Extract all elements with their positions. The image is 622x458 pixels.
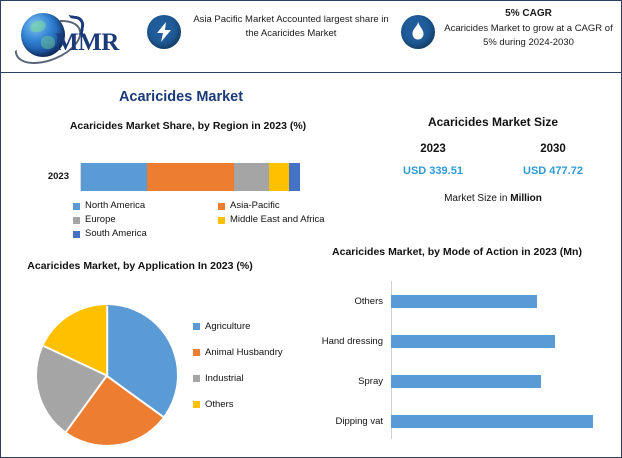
- legend-swatch-icon: [193, 323, 200, 330]
- infographic-page: MMR Asia Pacific Market Accounted larges…: [0, 0, 622, 458]
- moa-bar-spray[interactable]: [391, 375, 541, 388]
- legend-label: South America: [85, 227, 147, 241]
- moa-row-hand-dressing: Hand dressing: [313, 321, 613, 361]
- bar-segment-north-america[interactable]: [81, 163, 147, 191]
- cagr-headline: 5% CAGR: [441, 7, 616, 21]
- market-size-panel: Acaricides Market Size 2023 2030 USD 339…: [373, 115, 613, 227]
- legend-item-animal-husbandry[interactable]: Animal Husbandry: [193, 339, 283, 365]
- brand-name: MMR: [55, 29, 119, 57]
- header-highlight-1: Asia Pacific Market Accounted largest sh…: [187, 13, 395, 41]
- mode-of-action-title: Acaricides Market, by Mode of Action in …: [307, 245, 607, 259]
- market-size-footnote-prefix: Market Size in: [444, 193, 510, 204]
- moa-row-spray: Spray: [313, 361, 613, 401]
- moa-category-label: Hand dressing: [313, 336, 387, 347]
- market-size-footnote: Market Size in Million: [373, 193, 613, 204]
- pie-divider: [43, 345, 107, 376]
- legend-swatch-icon: [218, 203, 225, 210]
- legend-item-industrial[interactable]: Industrial: [193, 365, 283, 391]
- moa-bar-dipping-vat[interactable]: [391, 415, 593, 428]
- region-bar-row: 2023: [25, 161, 355, 195]
- moa-category-label: Others: [313, 296, 387, 307]
- market-size-value-base: USD 339.51: [373, 165, 493, 177]
- legend-swatch-icon: [73, 217, 80, 224]
- application-pie[interactable]: [37, 305, 177, 445]
- application-chart-title: Acaricides Market, by Application In 202…: [15, 259, 265, 273]
- legend-label: Industrial: [205, 373, 244, 384]
- lightning-bolt-icon: [147, 15, 181, 49]
- region-chart-title: Acaricides Market Share, by Region in 20…: [15, 119, 361, 133]
- page-title: Acaricides Market: [1, 89, 361, 105]
- application-legend: Agriculture Animal Husbandry Industrial …: [193, 313, 283, 417]
- bar-segment-middle-east-africa[interactable]: [269, 163, 289, 191]
- moa-category-label: Spray: [313, 376, 387, 387]
- legend-label: North America: [85, 199, 145, 213]
- region-share-chart: Acaricides Market Share, by Region in 20…: [15, 119, 361, 247]
- region-stacked-bar: [80, 163, 300, 191]
- market-size-title: Acaricides Market Size: [373, 115, 613, 129]
- market-size-values: USD 339.51 USD 477.72: [373, 165, 613, 177]
- mode-of-action-chart: Acaricides Market, by Mode of Action in …: [307, 245, 619, 455]
- legend-label: Middle East and Africa: [230, 213, 325, 227]
- legend-label: Animal Husbandry: [205, 347, 283, 358]
- legend-item-agriculture[interactable]: Agriculture: [193, 313, 283, 339]
- legend-item-asia-pacific[interactable]: Asia-Pacific: [218, 199, 363, 213]
- region-legend: North America Asia-Pacific Europe Middle…: [73, 199, 363, 241]
- legend-item-europe[interactable]: Europe: [73, 213, 218, 227]
- legend-item-others[interactable]: Others: [193, 391, 283, 417]
- legend-label: Agriculture: [205, 321, 250, 332]
- legend-item-north-america[interactable]: North America: [73, 199, 218, 213]
- legend-swatch-icon: [193, 375, 200, 382]
- legend-swatch-icon: [193, 401, 200, 408]
- moa-category-label: Dipping vat: [313, 416, 387, 427]
- cagr-description: Acaricides Market to grow at a CAGR of 5…: [444, 23, 612, 48]
- brand-logo: MMR: [13, 7, 133, 65]
- moa-row-dipping-vat: Dipping vat: [313, 401, 613, 441]
- pie-divider: [107, 375, 165, 417]
- bar-segment-south-america[interactable]: [289, 163, 300, 191]
- market-size-year-base: 2023: [373, 143, 493, 155]
- pie-divider: [65, 375, 107, 433]
- region-category-label: 2023: [25, 171, 69, 182]
- bar-segment-europe[interactable]: [234, 163, 269, 191]
- market-size-value-forecast: USD 477.72: [493, 165, 613, 177]
- moa-row-others: Others: [313, 281, 613, 321]
- moa-bar-hand-dressing[interactable]: [391, 335, 555, 348]
- legend-label: Europe: [85, 213, 116, 227]
- legend-label: Others: [205, 399, 234, 410]
- legend-swatch-icon: [73, 231, 80, 238]
- market-size-unit: Million: [510, 193, 542, 204]
- market-size-years: 2023 2030: [373, 143, 613, 155]
- moa-bar-others[interactable]: [391, 295, 537, 308]
- header-highlight-2: 5% CAGR Acaricides Market to grow at a C…: [441, 7, 616, 50]
- pie-divider: [106, 306, 108, 376]
- bar-segment-asia-pacific[interactable]: [147, 163, 235, 191]
- legend-item-middle-east-africa[interactable]: Middle East and Africa: [218, 213, 363, 227]
- legend-item-south-america[interactable]: South America: [73, 227, 218, 241]
- legend-swatch-icon: [193, 349, 200, 356]
- market-size-year-forecast: 2030: [493, 143, 613, 155]
- legend-swatch-icon: [218, 217, 225, 224]
- flame-icon: [401, 15, 435, 49]
- mode-of-action-plot: Others Hand dressing Spray Dipping vat: [313, 281, 613, 445]
- header-bar: MMR Asia Pacific Market Accounted larges…: [1, 1, 621, 73]
- legend-swatch-icon: [73, 203, 80, 210]
- legend-label: Asia-Pacific: [230, 199, 280, 213]
- application-share-chart: Acaricides Market, by Application In 202…: [9, 259, 309, 455]
